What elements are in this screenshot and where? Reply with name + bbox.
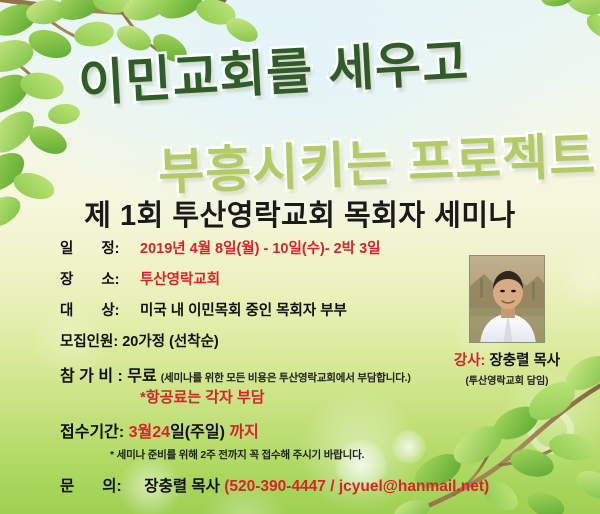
detail-label-date: 일정: bbox=[60, 240, 140, 258]
detail-value-date: 2019년 4월 8일(월) - 10일(수)- 2박 3일 bbox=[140, 241, 381, 257]
details-block: 일정:2019년 4월 8일(월) - 10일(수)- 2박 3일 장소:투산영… bbox=[60, 240, 480, 507]
deadline-until: 까지 bbox=[229, 424, 258, 441]
detail-label-capacity: 모집인원: bbox=[60, 334, 118, 350]
speaker-card: 강사: 장충렬 목사 (투산영락교회 담임) bbox=[437, 255, 577, 387]
speaker-church: (투산영락교회 담임) bbox=[437, 372, 577, 387]
speaker-prefix: 강사: bbox=[454, 353, 486, 369]
detail-row-place: 장소:투산영락교회 bbox=[60, 271, 480, 289]
detail-label-contact: 문의: bbox=[60, 477, 140, 496]
detail-label-fee: 참 가 비 : bbox=[60, 368, 127, 385]
detail-row-target: 대상:미국 내 이민목회 중인 목회자 부부 bbox=[60, 302, 480, 320]
detail-row-contact: 문의: 장충렬 목사 (520-390-4447 / jcyuel@hanmai… bbox=[60, 477, 480, 496]
speaker-photo bbox=[469, 255, 545, 343]
detail-label-place: 장소: bbox=[60, 271, 140, 289]
detail-row-fee: 참 가 비 : 무료 (세미나를 위한 모든 비용은 투산영락교회에서 부담합니… bbox=[60, 367, 480, 387]
seminar-poster: 이민교회를 세우고 부흥시키는 프로젝트 제 1회 투산영락교회 목회자 세미나… bbox=[0, 0, 600, 514]
page-title: 제 1회 투산영락교회 목회자 세미나 bbox=[0, 192, 600, 234]
speaker-name-text: 장충렬 목사 bbox=[485, 353, 560, 369]
speaker-name: 강사: 장충렬 목사 bbox=[437, 349, 577, 370]
contact-info: (520-390-4447 / jcyuel@hanmail.net) bbox=[224, 478, 489, 495]
contact-name: 장충렬 목사 bbox=[140, 478, 224, 495]
deadline-day: 24 bbox=[152, 424, 170, 441]
headline-line-1: 이민교회를 세우고 bbox=[76, 22, 470, 116]
leaf-sprig-icon bbox=[490, 0, 600, 83]
detail-value-target: 미국 내 이민목회 중인 목회자 부부 bbox=[140, 303, 347, 319]
detail-value-place: 투산영락교회 bbox=[140, 272, 220, 288]
detail-value-airfare: *항공료는 각자 부담 bbox=[140, 389, 265, 406]
detail-row-airfare: *항공료는 각자 부담 bbox=[60, 389, 480, 408]
deadline-dayofweek: 일(주일) bbox=[170, 424, 229, 441]
detail-row-deadline-note: * 세미나 준비를 위해 2주 전까지 꼭 접수해 주시기 바랍니다. bbox=[60, 445, 480, 463]
speaker-portrait-image bbox=[470, 256, 545, 343]
detail-label-target: 대상: bbox=[60, 302, 140, 320]
detail-label-deadline: 접수기간: bbox=[60, 424, 129, 441]
detail-row-date: 일정:2019년 4월 8일(월) - 10일(수)- 2박 3일 bbox=[60, 240, 480, 258]
deadline-month: 3월 bbox=[129, 424, 153, 441]
detail-row-capacity: 모집인원: 20가정 (선착순) bbox=[60, 333, 480, 351]
bokeh-ring bbox=[528, 408, 574, 454]
detail-row-deadline: 접수기간: 3월24일(주일) 까지 bbox=[60, 423, 480, 443]
detail-value-fee: 무료 bbox=[127, 368, 156, 385]
detail-note-fee: (세미나를 위한 모든 비용은 투산영락교회에서 부담합니다.) bbox=[161, 372, 411, 384]
detail-note-deadline: * 세미나 준비를 위해 2주 전까지 꼭 접수해 주시기 바랍니다. bbox=[110, 449, 364, 461]
detail-value-capacity: 20가정 (선착순) bbox=[122, 334, 219, 350]
